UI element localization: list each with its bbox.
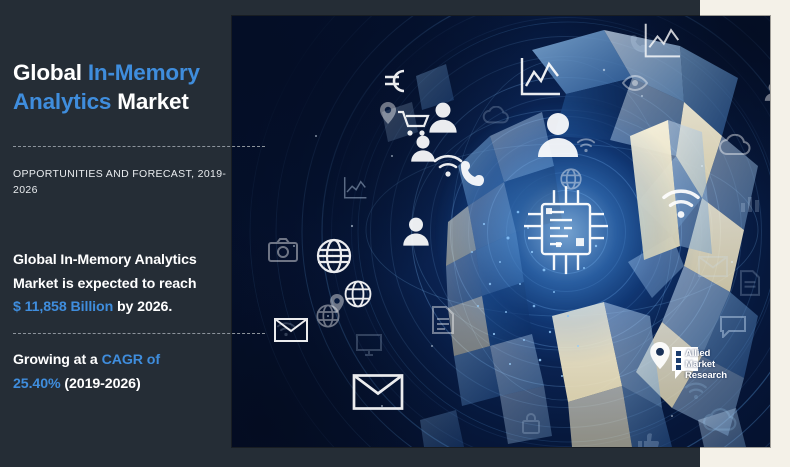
location-pin-icon (330, 294, 344, 313)
page-title: Global In-Memory Analytics Market (13, 58, 228, 116)
logo-text: Allied Market Research (685, 348, 727, 382)
wifi-icon (576, 138, 596, 153)
phone-icon (630, 34, 648, 54)
text-column: Global In-Memory Analytics Market OPPORT… (0, 0, 232, 467)
cloud-icon (482, 106, 510, 124)
envelope-icon (274, 318, 308, 342)
envelope-icon (698, 256, 728, 277)
cagr-period: (2019-2026) (61, 376, 141, 392)
line-chart-icon (342, 176, 368, 200)
monitor-icon (356, 334, 382, 356)
wifi-icon (432, 154, 464, 178)
divider-bottom (13, 333, 265, 334)
shopping-cart-icon (396, 108, 430, 138)
cagr-prefix: Growing at a (13, 352, 102, 368)
divider-top (13, 146, 265, 147)
statement-line-2: Market is expected to reach (13, 276, 196, 292)
person-icon (536, 111, 580, 157)
thumbs-up-icon (638, 432, 660, 447)
document-icon (432, 306, 454, 334)
subheading: OPPORTUNITIES AND FORECAST, 2019-2026 (13, 166, 228, 198)
logo-line-3: Research (685, 370, 727, 381)
globe-icon (316, 238, 352, 274)
line-chart-icon (518, 56, 562, 98)
infographic-canvas: Allied Market Research Global In-Memory … (0, 0, 790, 467)
eye-icon (622, 74, 648, 92)
cloud-icon (702, 408, 738, 432)
chat-icon (720, 316, 746, 338)
camera-icon (268, 238, 298, 262)
cloud-icon (718, 134, 752, 156)
document-icon (740, 270, 760, 296)
title-part-1: Global (13, 60, 88, 85)
location-pin-icon (380, 102, 396, 124)
cagr-statement: Growing at a CAGR of 25.40% (2019-2026) (13, 349, 235, 396)
statement-line-1: Global In-Memory Analytics (13, 252, 197, 268)
wifi-icon (660, 188, 702, 220)
person-icon (764, 82, 770, 101)
person-icon (428, 101, 458, 133)
statement-suffix: by 2026. (113, 299, 172, 315)
line-chart-icon (642, 22, 682, 60)
title-part-3: Market (111, 89, 188, 114)
market-value: $ 11,858 Billion (13, 299, 113, 315)
globe-icon (344, 280, 372, 308)
lock-icon (522, 412, 540, 434)
hero-image-panel: Allied Market Research (232, 16, 770, 447)
person-icon (402, 216, 430, 246)
envelope-icon (352, 374, 404, 410)
globe-icon (560, 168, 582, 190)
currency-icon (382, 64, 408, 98)
title-highlight-1: In-Memory (88, 60, 200, 85)
circuit-chip-icon (520, 182, 612, 278)
location-pin-icon (650, 342, 670, 369)
cagr-label: CAGR of (102, 352, 160, 368)
title-highlight-2: Analytics (13, 89, 111, 114)
logo-line-2: Market (685, 359, 727, 370)
cagr-value: 25.40% (13, 376, 61, 392)
allied-market-research-logo: Allied Market Research (671, 346, 737, 392)
bar-chart-icon (740, 192, 760, 212)
market-statement: Global In-Memory Analytics Market is exp… (13, 249, 235, 320)
logo-line-1: Allied (685, 348, 727, 359)
